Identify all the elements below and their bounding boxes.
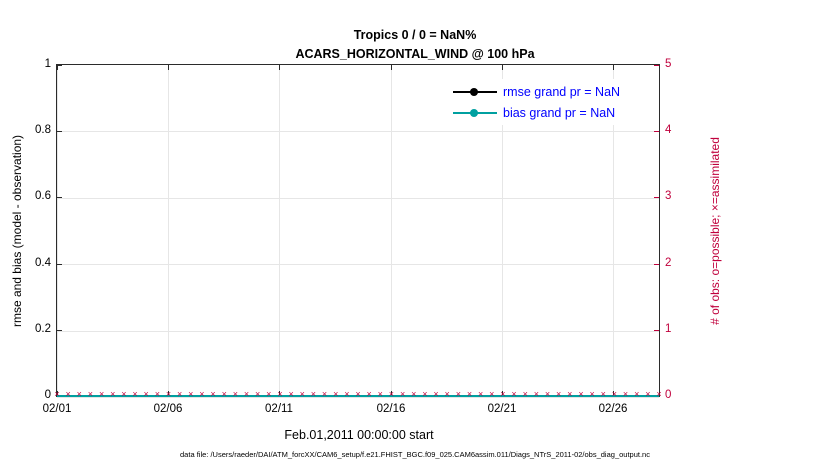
obs-marker-x-icon: × [109, 391, 116, 398]
obs-marker-x-icon: × [288, 391, 295, 398]
x-tick-top [613, 65, 614, 70]
obs-marker-x-icon: × [265, 391, 272, 398]
x-tick-label: 02/26 [583, 403, 643, 415]
obs-marker-x-icon: × [87, 391, 94, 398]
obs-marker-x-icon: × [611, 391, 618, 398]
y-tick-left [57, 131, 62, 132]
obs-marker-x-icon: × [210, 391, 217, 398]
y-tick-label-right: 3 [665, 190, 705, 202]
legend-item-bias: bias grand pr = NaN [453, 102, 620, 123]
obs-marker-x-icon: × [54, 391, 61, 398]
obs-marker-x-icon: × [544, 391, 551, 398]
x-axis-title: Feb.01,2011 00:00:00 start [57, 428, 661, 442]
y-tick-right [654, 65, 659, 66]
obs-marker-x-icon: × [343, 391, 350, 398]
obs-marker-x-icon: × [132, 391, 139, 398]
obs-marker-x-icon: × [377, 391, 384, 398]
obs-marker-x-icon: × [511, 391, 518, 398]
obs-marker-x-icon: × [399, 391, 406, 398]
y-tick-right [654, 264, 659, 265]
x-tick-top [391, 65, 392, 70]
y-tick-label-right: 0 [665, 389, 705, 401]
obs-marker-x-icon: × [310, 391, 317, 398]
obs-marker-x-icon: × [76, 391, 83, 398]
y-tick-left [57, 65, 62, 66]
obs-marker-x-icon: × [477, 391, 484, 398]
obs-marker-x-icon: × [321, 391, 328, 398]
obs-marker-x-icon: × [589, 391, 596, 398]
legend-item-rmse: rmse grand pr = NaN [453, 81, 620, 102]
obs-marker-x-icon: × [232, 391, 239, 398]
obs-marker-x-icon: × [421, 391, 428, 398]
x-tick-label: 02/06 [138, 403, 198, 415]
obs-marker-x-icon: × [455, 391, 462, 398]
obs-marker-x-icon: × [243, 391, 250, 398]
obs-marker-x-icon: × [65, 391, 72, 398]
gridline-vertical [279, 65, 280, 396]
obs-marker-x-icon: × [533, 391, 540, 398]
obs-marker-x-icon: × [555, 391, 562, 398]
obs-marker-x-icon: × [355, 391, 362, 398]
obs-assimilated-markers: ××××××××××××××××××××××××××××××××××××××××… [57, 391, 659, 400]
obs-marker-x-icon: × [522, 391, 529, 398]
obs-marker-x-icon: × [656, 391, 663, 398]
chart-title-line2: ACARS_HORIZONTAL_WIND @ 100 hPa [0, 45, 830, 64]
obs-marker-x-icon: × [332, 391, 339, 398]
y-tick-label-left: 0 [9, 389, 51, 401]
chart-canvas: Tropics 0 / 0 = NaN% ACARS_HORIZONTAL_WI… [0, 0, 830, 470]
obs-marker-x-icon: × [499, 391, 506, 398]
gridline-vertical [168, 65, 169, 396]
obs-marker-x-icon: × [466, 391, 473, 398]
obs-marker-x-icon: × [566, 391, 573, 398]
data-file-footer: data file: /Users/raeder/DAI/ATM_forcXX/… [0, 450, 830, 459]
chart-legend: rmse grand pr = NaN bias grand pr = NaN [449, 79, 624, 125]
gridline-vertical [57, 65, 58, 396]
y-tick-right [654, 197, 659, 198]
x-tick-top [502, 65, 503, 70]
x-tick-label: 02/11 [249, 403, 309, 415]
chart-title: Tropics 0 / 0 = NaN% ACARS_HORIZONTAL_WI… [0, 26, 830, 64]
legend-label-bias: bias grand pr = NaN [503, 106, 615, 120]
obs-marker-x-icon: × [154, 391, 161, 398]
obs-marker-x-icon: × [577, 391, 584, 398]
y-tick-right [654, 330, 659, 331]
legend-marker-bias-icon [453, 107, 497, 119]
x-tick-top [168, 65, 169, 70]
obs-marker-x-icon: × [410, 391, 417, 398]
gridline-horizontal [57, 198, 659, 199]
obs-marker-x-icon: × [98, 391, 105, 398]
obs-marker-x-icon: × [433, 391, 440, 398]
obs-marker-x-icon: × [120, 391, 127, 398]
obs-marker-x-icon: × [488, 391, 495, 398]
obs-marker-x-icon: × [600, 391, 607, 398]
y-tick-label-left: 1 [9, 58, 51, 70]
y-axis-title-right: # of obs: o=possible; ×=assimilated [708, 137, 722, 325]
obs-marker-x-icon: × [276, 391, 283, 398]
obs-marker-x-icon: × [299, 391, 306, 398]
x-tick-label: 02/21 [472, 403, 532, 415]
y-tick-label-right: 1 [665, 323, 705, 335]
obs-marker-x-icon: × [221, 391, 228, 398]
y-tick-left [57, 264, 62, 265]
chart-title-line1: Tropics 0 / 0 = NaN% [0, 26, 830, 45]
legend-label-rmse: rmse grand pr = NaN [503, 85, 620, 99]
obs-marker-x-icon: × [366, 391, 373, 398]
legend-marker-rmse-icon [453, 86, 497, 98]
x-tick-label: 02/16 [361, 403, 421, 415]
obs-marker-x-icon: × [165, 391, 172, 398]
plot-area: 02/01 02/06 02/11 02/16 02/21 02/26 0 0.… [56, 64, 660, 397]
gridline-horizontal [57, 331, 659, 332]
y-tick-left [57, 330, 62, 331]
obs-marker-x-icon: × [622, 391, 629, 398]
obs-marker-x-icon: × [198, 391, 205, 398]
y-axis-title-left: rmse and bias (model - observation) [10, 134, 24, 326]
obs-marker-x-icon: × [187, 391, 194, 398]
y-tick-right [654, 131, 659, 132]
y-tick-label-right: 2 [665, 257, 705, 269]
x-tick-top [279, 65, 280, 70]
gridline-horizontal [57, 131, 659, 132]
y-tick-label-right: 4 [665, 124, 705, 136]
obs-marker-x-icon: × [176, 391, 183, 398]
obs-marker-x-icon: × [444, 391, 451, 398]
obs-marker-x-icon: × [254, 391, 261, 398]
y-tick-label-right: 5 [665, 58, 705, 70]
obs-marker-x-icon: × [644, 391, 651, 398]
y-tick-left [57, 197, 62, 198]
gridline-vertical [391, 65, 392, 396]
obs-marker-x-icon: × [633, 391, 640, 398]
obs-marker-x-icon: × [143, 391, 150, 398]
x-tick-label: 02/01 [27, 403, 87, 415]
gridline-horizontal [57, 264, 659, 265]
obs-marker-x-icon: × [388, 391, 395, 398]
